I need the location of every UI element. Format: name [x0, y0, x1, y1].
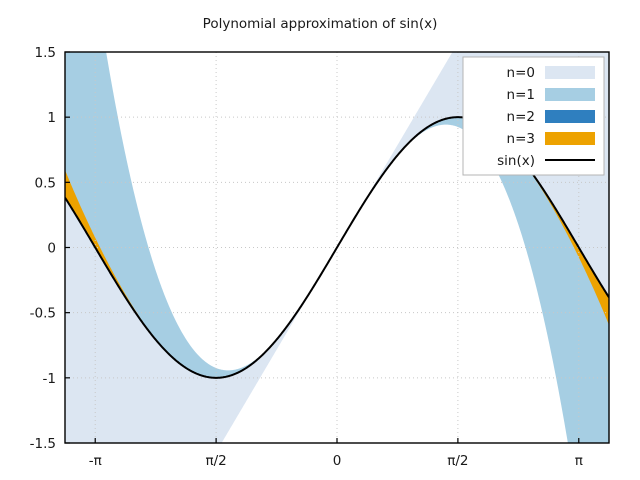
y-tick-label: -0.5	[30, 306, 56, 322]
legend-label-n1: n=1	[507, 87, 535, 103]
y-tick-label: -1.5	[30, 436, 56, 452]
y-tick-label: 0	[47, 241, 56, 257]
legend-swatch	[545, 110, 595, 123]
y-tick-label: 1.5	[35, 45, 56, 61]
y-tick-label: 1	[47, 110, 56, 126]
legend-swatch	[545, 66, 595, 79]
legend-label-n0: n=0	[507, 65, 535, 81]
legend-swatch	[545, 132, 595, 145]
x-tick-label: π/2	[447, 453, 468, 469]
x-tick-label: -π	[89, 453, 102, 469]
legend: n=0n=1n=2n=3sin(x)	[463, 57, 604, 175]
y-tick-label: -1	[43, 371, 56, 387]
legend-label-n2: n=2	[507, 109, 535, 125]
chart-title: Polynomial approximation of sin(x)	[203, 16, 438, 32]
x-tick-label: π	[575, 453, 583, 469]
legend-label-n3: n=3	[507, 131, 535, 147]
polynomial-approximation-plot: -1.5-1-0.500.511.5-ππ/20π/2πPolynomial a…	[0, 0, 640, 480]
x-tick-label: 0	[333, 453, 342, 469]
legend-label-sinx: sin(x)	[497, 153, 535, 169]
chart-container: -1.5-1-0.500.511.5-ππ/20π/2πPolynomial a…	[0, 0, 640, 480]
x-tick-label: π/2	[205, 453, 226, 469]
legend-swatch	[545, 88, 595, 101]
y-tick-label: 0.5	[35, 175, 56, 191]
